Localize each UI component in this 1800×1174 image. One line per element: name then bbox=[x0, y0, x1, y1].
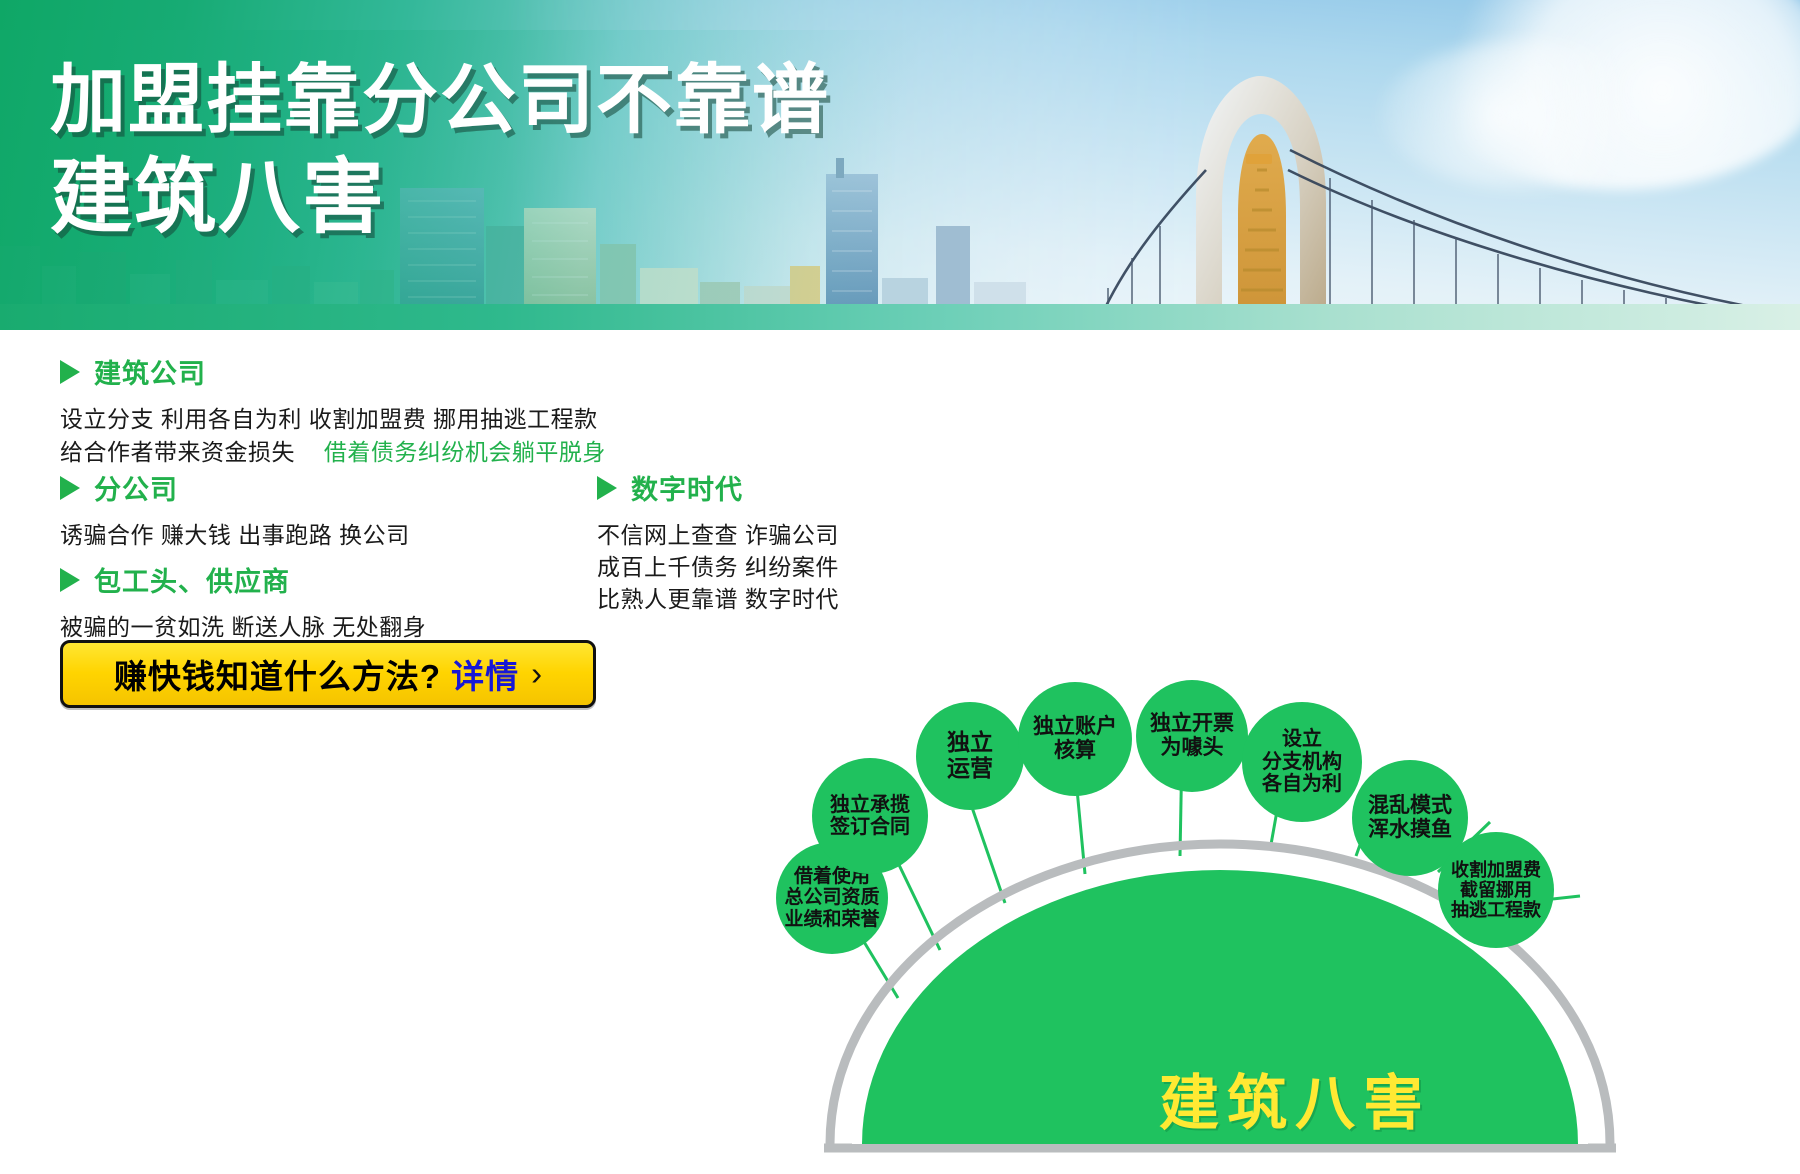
content-area: 建筑公司 设立分支 利用各自为利 收割加盟费 挪用抽逃工程款 给合作者带来资金损… bbox=[0, 330, 1800, 844]
section-line: 诱骗合作 赚大钱 出事跑路 换公司 bbox=[60, 519, 410, 552]
bubble-line: 独立开票 bbox=[1150, 712, 1234, 736]
eight-harms-diagram: 借着使用 总公司资质 业绩和荣誉 独立承揽 签订合同 独立 运营 独立账户 核算… bbox=[790, 660, 1800, 1174]
bubble-independent-contracting[interactable]: 独立承揽 签订合同 bbox=[812, 758, 928, 874]
section-title: 包工头、供应商 bbox=[94, 560, 290, 599]
bubble-line: 运营 bbox=[947, 756, 993, 782]
section-line: 不信网上查查 诈骗公司 bbox=[597, 519, 839, 551]
bubble-establish-branch[interactable]: 设立 分支机构 各自为利 bbox=[1242, 702, 1362, 822]
cta-main-label: 赚快钱知道什么方法? bbox=[114, 650, 441, 698]
section-line: 设立分支 利用各自为利 收割加盟费 挪用抽逃工程款 bbox=[60, 403, 606, 436]
bubble-line: 业绩和荣誉 bbox=[784, 909, 879, 930]
bubble-line: 总公司资质 bbox=[784, 887, 879, 908]
section-title: 分公司 bbox=[94, 468, 178, 507]
banner-headline: 加盟挂靠分公司不靠谱 建筑八害 bbox=[50, 58, 830, 246]
triangle-bullet-icon bbox=[60, 360, 80, 384]
arch-center-title: 建筑八害 bbox=[790, 1055, 1800, 1142]
bubble-line: 截留挪用 bbox=[1460, 880, 1532, 900]
triangle-bullet-icon bbox=[597, 476, 617, 500]
bubble-line: 浑水摸鱼 bbox=[1368, 818, 1452, 842]
bubble-line: 抽逃工程款 bbox=[1451, 900, 1541, 920]
bubble-line: 为噱头 bbox=[1161, 736, 1224, 760]
section-header: 分公司 bbox=[60, 468, 410, 507]
section-line-black: 给合作者带来资金损失 bbox=[60, 439, 295, 465]
bubble-line: 独立账户 bbox=[1033, 715, 1117, 739]
section-title: 数字时代 bbox=[631, 468, 743, 507]
section-header: 数字时代 bbox=[597, 468, 839, 507]
bubble-harvest-franchise-fee[interactable]: 收割加盟费 截留挪用 抽逃工程款 bbox=[1438, 832, 1554, 948]
bubble-line: 收割加盟费 bbox=[1451, 860, 1541, 880]
bubble-line: 分支机构 bbox=[1262, 751, 1342, 773]
bubble-line: 设立 bbox=[1282, 728, 1322, 750]
bubble-independent-account[interactable]: 独立账户 核算 bbox=[1018, 682, 1132, 796]
cta-detail-link[interactable]: 详情 bbox=[451, 650, 519, 698]
bubble-line: 独立 bbox=[947, 730, 993, 756]
section-header: 建筑公司 bbox=[60, 352, 606, 391]
triangle-bullet-icon bbox=[60, 476, 80, 500]
section-header: 包工头、供应商 bbox=[60, 560, 426, 599]
section-digital-era: 数字时代 不信网上查查 诈骗公司 成百上千债务 纠纷案件 比熟人更靠谱 数字时代 bbox=[597, 468, 839, 615]
bubble-line: 各自为利 bbox=[1262, 773, 1342, 795]
bubble-line: 核算 bbox=[1054, 739, 1096, 763]
headline-line-2: 建筑八害 bbox=[50, 150, 830, 246]
bubble-independent-operation[interactable]: 独立 运营 bbox=[916, 702, 1024, 810]
triangle-bullet-icon bbox=[60, 568, 80, 592]
banner-ground-strip bbox=[0, 304, 1800, 330]
section-title: 建筑公司 bbox=[94, 352, 206, 391]
bubble-line: 混乱模式 bbox=[1368, 794, 1452, 818]
section-line: 比熟人更靠谱 数字时代 bbox=[597, 583, 839, 615]
bubble-independent-invoicing[interactable]: 独立开票 为噱头 bbox=[1136, 680, 1248, 792]
chevron-right-icon: › bbox=[531, 655, 542, 693]
section-line-mixed: 给合作者带来资金损失 借着债务纠纷机会躺平脱身 bbox=[60, 436, 606, 469]
bubble-line: 签订合同 bbox=[830, 816, 910, 838]
bubble-line: 独立承揽 bbox=[830, 794, 910, 816]
section-contractor-supplier: 包工头、供应商 被骗的一贫如洗 断送人脉 无处翻身 bbox=[60, 560, 426, 644]
section-line: 成百上千债务 纠纷案件 bbox=[597, 551, 839, 583]
hero-banner: 加盟挂靠分公司不靠谱 建筑八害 bbox=[0, 0, 1800, 330]
section-construction-company: 建筑公司 设立分支 利用各自为利 收割加盟费 挪用抽逃工程款 给合作者带来资金损… bbox=[60, 352, 606, 469]
headline-line-1: 加盟挂靠分公司不靠谱 bbox=[50, 58, 830, 144]
cta-button[interactable]: 赚快钱知道什么方法? 详情 › bbox=[60, 640, 596, 708]
section-branch-company: 分公司 诱骗合作 赚大钱 出事跑路 换公司 bbox=[60, 468, 410, 552]
section-line-green: 借着债务纠纷机会躺平脱身 bbox=[324, 439, 606, 465]
